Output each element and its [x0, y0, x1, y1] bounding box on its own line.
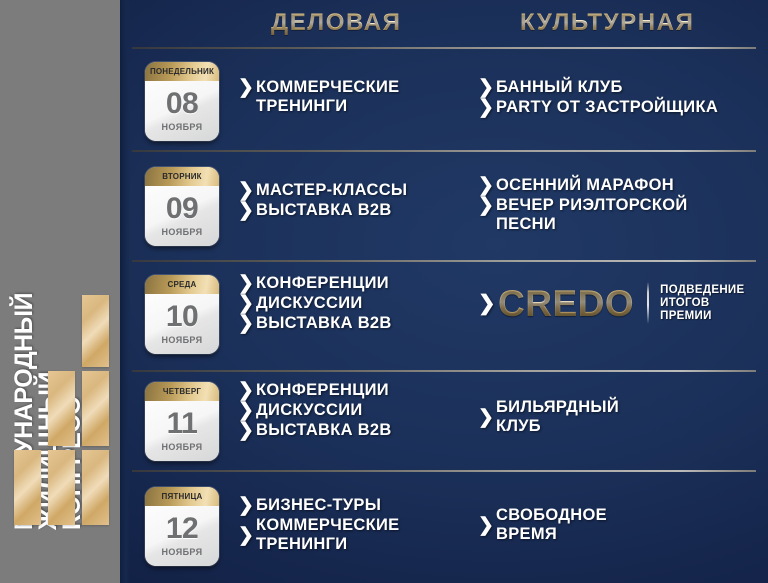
list-item-label: ВЫСТАВКА B2B — [256, 314, 392, 333]
list-item: ❯ БИЗНЕС-ТУРЫ — [238, 496, 399, 515]
list-item-label: КОММЕРЧЕСКИЕ ТРЕНИНГИ — [256, 78, 399, 116]
schedule-panel: ДЕЛОВАЯ КУЛЬТУРНАЯ ПОНЕДЕЛЬНИК 08 НОЯБРЯ… — [120, 0, 768, 583]
list-item: ❯ КОММЕРЧЕСКИЕ ТРЕНИНГИ — [238, 516, 399, 554]
logo-bar-6 — [82, 295, 109, 367]
date-card-month: НОЯБРЯ — [162, 547, 203, 557]
date-card-day: 10 — [166, 302, 198, 332]
date-card-weekday-band: ЧЕТВЕРГ — [145, 382, 219, 401]
chevron-icon: ❯ — [478, 176, 496, 195]
list-item: ❯ КОНФЕРЕНЦИИ — [238, 274, 392, 293]
list-item: ❯ ВЕЧЕР РИЭЛТОРСКОЙ ПЕСНИ — [478, 196, 688, 234]
schedule-row-monday: ПОНЕДЕЛЬНИК 08 НОЯБРЯ ❯ КОММЕРЧЕСКИЕ ТРЕ… — [120, 47, 768, 150]
list-item: ❯ ОСЕННИЙ МАРАФОН — [478, 176, 688, 195]
cultural-list-thursday: ❯ БИЛЬЯРДНЫЙ КЛУБ — [478, 398, 619, 437]
date-card-thursday: ЧЕТВЕРГ 11 НОЯБРЯ — [145, 382, 219, 461]
business-list-friday: ❯ БИЗНЕС-ТУРЫ ❯ КОММЕРЧЕСКИЕ ТРЕНИНГИ — [238, 496, 399, 555]
cultural-list-friday: ❯ СВОБОДНОЕ ВРЕМЯ — [478, 506, 607, 545]
column-headers: ДЕЛОВАЯ КУЛЬТУРНАЯ — [120, 9, 768, 41]
sidebar: МЕЖДУНАРОДНЫЙ ЖИЛИЩНЫЙ КОНГРЕСС — [0, 0, 120, 583]
date-card-day: 11 — [167, 409, 198, 439]
list-item-label: ДИСКУССИИ — [256, 294, 363, 313]
date-card-weekday-band: СРЕДА — [145, 275, 219, 294]
chevron-icon: ❯ — [478, 406, 496, 429]
chevron-icon: ❯ — [238, 181, 256, 200]
list-item: ❯ МАСТЕР-КЛАССЫ — [238, 181, 407, 200]
date-card-friday: ПЯТНИЦА 12 НОЯБРЯ — [145, 487, 219, 566]
date-card-weekday-band: ВТОРНИК — [145, 167, 219, 186]
date-card-month: НОЯБРЯ — [162, 227, 203, 237]
chevron-icon: ❯ — [238, 524, 256, 547]
list-item: ❯ ВЫСТАВКА B2B — [238, 314, 392, 333]
logo-bar-5 — [82, 371, 109, 446]
date-card-day: 09 — [166, 194, 198, 224]
list-item: ❯ ВЫСТАВКА B2B — [238, 201, 407, 220]
list-item-label: СВОБОДНОЕ ВРЕМЯ — [496, 506, 607, 544]
business-list-tuesday: ❯ МАСТЕР-КЛАССЫ ❯ ВЫСТАВКА B2B — [238, 181, 407, 221]
chevron-icon: ❯ — [238, 274, 256, 293]
list-item-label: КОНФЕРЕНЦИИ — [256, 274, 389, 293]
date-card-body: 12 НОЯБРЯ — [145, 506, 219, 566]
business-list-monday: ❯ КОММЕРЧЕСКИЕ ТРЕНИНГИ — [238, 78, 399, 117]
schedule-row-tuesday: ВТОРНИК 09 НОЯБРЯ ❯ МАСТЕР-КЛАССЫ ❯ ВЫСТ… — [120, 150, 768, 260]
list-item-label: ДИСКУССИИ — [256, 401, 363, 420]
list-item-label: МАСТЕР-КЛАССЫ — [256, 181, 407, 200]
list-item: ❯ КОНФЕРЕНЦИИ — [238, 381, 392, 400]
date-card-month: НОЯБРЯ — [162, 122, 203, 132]
chevron-icon: ❯ — [238, 294, 256, 313]
credo-subtitle: ПОДВЕДЕНИЕ ИТОГОВ ПРЕМИИ — [660, 284, 744, 323]
date-card-weekday: ЧЕТВЕРГ — [163, 387, 201, 396]
business-list-wednesday: ❯ КОНФЕРЕНЦИИ ❯ ДИСКУССИИ ❯ ВЫСТАВКА B2B — [238, 274, 392, 334]
credo-award-logo: ❯ CREDO ПОДВЕДЕНИЕ ИТОГОВ ПРЕМИИ — [478, 282, 744, 324]
chevron-icon: ❯ — [238, 314, 256, 333]
column-header-business: ДЕЛОВАЯ — [271, 9, 402, 37]
cultural-list-monday: ❯ БАННЫЙ КЛУБ ❯ PARTY ОТ ЗАСТРОЙЩИКА — [478, 78, 718, 118]
date-card-month: НОЯБРЯ — [162, 335, 203, 345]
chevron-icon: ❯ — [478, 514, 496, 537]
list-item-label: БИЗНЕС-ТУРЫ — [256, 496, 381, 515]
column-header-cultural: КУЛЬТУРНАЯ — [520, 9, 694, 37]
schedule-row-wednesday: СРЕДА 10 НОЯБРЯ ❯ КОНФЕРЕНЦИИ ❯ ДИСКУССИ… — [120, 260, 768, 370]
chevron-icon: ❯ — [238, 381, 256, 400]
list-item-label: БИЛЬЯРДНЫЙ КЛУБ — [496, 398, 619, 436]
chevron-icon: ❯ — [478, 293, 498, 314]
chevron-icon: ❯ — [238, 78, 256, 97]
date-card-day: 08 — [166, 89, 198, 119]
logo-bar-1 — [14, 450, 41, 525]
list-item-label: КОММЕРЧЕСКИЕ ТРЕНИНГИ — [256, 516, 399, 554]
date-card-weekday: ПОНЕДЕЛЬНИК — [150, 67, 214, 76]
date-card-weekday: СРЕДА — [168, 280, 197, 289]
list-item-label: PARTY ОТ ЗАСТРОЙЩИКА — [496, 98, 718, 117]
date-card-body: 09 НОЯБРЯ — [145, 186, 219, 246]
date-card-weekday: ПЯТНИЦА — [162, 492, 203, 501]
list-item: ❯ ДИСКУССИИ — [238, 401, 392, 420]
date-card-weekday-band: ПЯТНИЦА — [145, 487, 219, 506]
list-item-label: ВЫСТАВКА B2B — [256, 421, 392, 440]
date-card-weekday-band: ПОНЕДЕЛЬНИК — [145, 62, 219, 81]
credo-wordmark: CREDO — [498, 285, 634, 322]
list-item: ❯ ВЫСТАВКА B2B — [238, 421, 392, 440]
list-item-label: ВЕЧЕР РИЭЛТОРСКОЙ ПЕСНИ — [496, 196, 688, 234]
logo-bar-2 — [48, 450, 75, 525]
list-item: ❯ КОММЕРЧЕСКИЕ ТРЕНИНГИ — [238, 78, 399, 116]
schedule-row-thursday: ЧЕТВЕРГ 11 НОЯБРЯ ❯ КОНФЕРЕНЦИИ ❯ ДИСКУС… — [120, 370, 768, 470]
chevron-icon: ❯ — [238, 421, 256, 440]
chevron-icon: ❯ — [478, 78, 496, 97]
date-card-monday: ПОНЕДЕЛЬНИК 08 НОЯБРЯ — [145, 62, 219, 141]
list-item-label: КОНФЕРЕНЦИИ — [256, 381, 389, 400]
list-item-label: БАННЫЙ КЛУБ — [496, 78, 623, 97]
list-item: ❯ ДИСКУССИИ — [238, 294, 392, 313]
date-card-wednesday: СРЕДА 10 НОЯБРЯ — [145, 275, 219, 354]
schedule-row-friday: ПЯТНИЦА 12 НОЯБРЯ ❯ БИЗНЕС-ТУРЫ ❯ КОММЕР… — [120, 470, 768, 583]
date-card-body: 08 НОЯБРЯ — [145, 81, 219, 141]
date-card-weekday: ВТОРНИК — [162, 172, 202, 181]
date-card-tuesday: ВТОРНИК 09 НОЯБРЯ — [145, 167, 219, 246]
list-item: ❯ PARTY ОТ ЗАСТРОЙЩИКА — [478, 98, 718, 117]
credo-divider — [647, 282, 649, 324]
date-card-body: 10 НОЯБРЯ — [145, 294, 219, 354]
list-item-label: ВЫСТАВКА B2B — [256, 201, 392, 220]
cultural-list-tuesday: ❯ ОСЕННИЙ МАРАФОН ❯ ВЕЧЕР РИЭЛТОРСКОЙ ПЕ… — [478, 176, 688, 235]
chevron-icon: ❯ — [238, 496, 256, 515]
date-card-month: НОЯБРЯ — [162, 442, 203, 452]
date-card-body: 11 НОЯБРЯ — [145, 401, 219, 461]
congress-logo-bars — [14, 295, 110, 525]
chevron-icon: ❯ — [478, 98, 496, 117]
list-item: ❯ СВОБОДНОЕ ВРЕМЯ — [478, 506, 607, 544]
list-item: ❯ БИЛЬЯРДНЫЙ КЛУБ — [478, 398, 619, 436]
list-item: ❯ БАННЫЙ КЛУБ — [478, 78, 718, 97]
date-card-day: 12 — [166, 514, 198, 544]
logo-bar-4 — [48, 371, 75, 446]
schedule-infographic: МЕЖДУНАРОДНЫЙ ЖИЛИЩНЫЙ КОНГРЕСС ДЕЛОВАЯ … — [0, 0, 768, 583]
chevron-icon: ❯ — [478, 196, 496, 215]
chevron-icon: ❯ — [238, 201, 256, 220]
chevron-icon: ❯ — [238, 401, 256, 420]
logo-bar-3 — [82, 450, 109, 525]
business-list-thursday: ❯ КОНФЕРЕНЦИИ ❯ ДИСКУССИИ ❯ ВЫСТАВКА B2B — [238, 381, 392, 441]
list-item-label: ОСЕННИЙ МАРАФОН — [496, 176, 674, 195]
